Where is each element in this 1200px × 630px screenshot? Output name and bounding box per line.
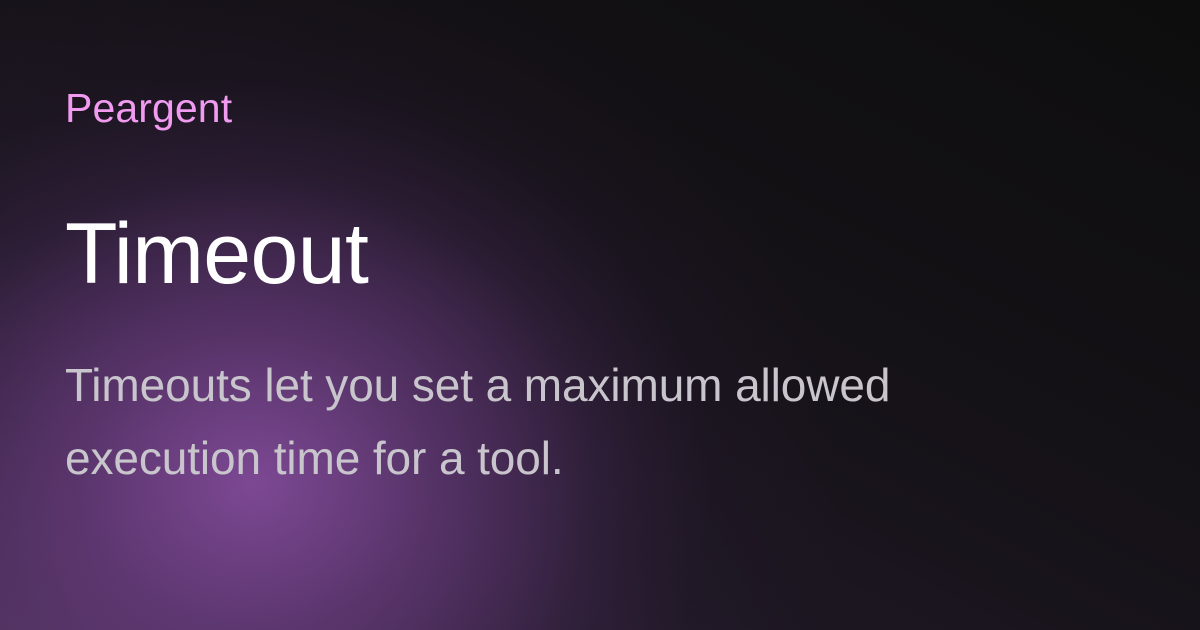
card-content: Peargent Timeout Timeouts let you set a …	[65, 86, 1120, 496]
open-graph-card: Peargent Timeout Timeouts let you set a …	[0, 0, 1200, 630]
page-description: Timeouts let you set a maximum allowed e…	[65, 349, 1075, 496]
brand-name: Peargent	[65, 86, 1120, 132]
page-title: Timeout	[65, 208, 1120, 301]
